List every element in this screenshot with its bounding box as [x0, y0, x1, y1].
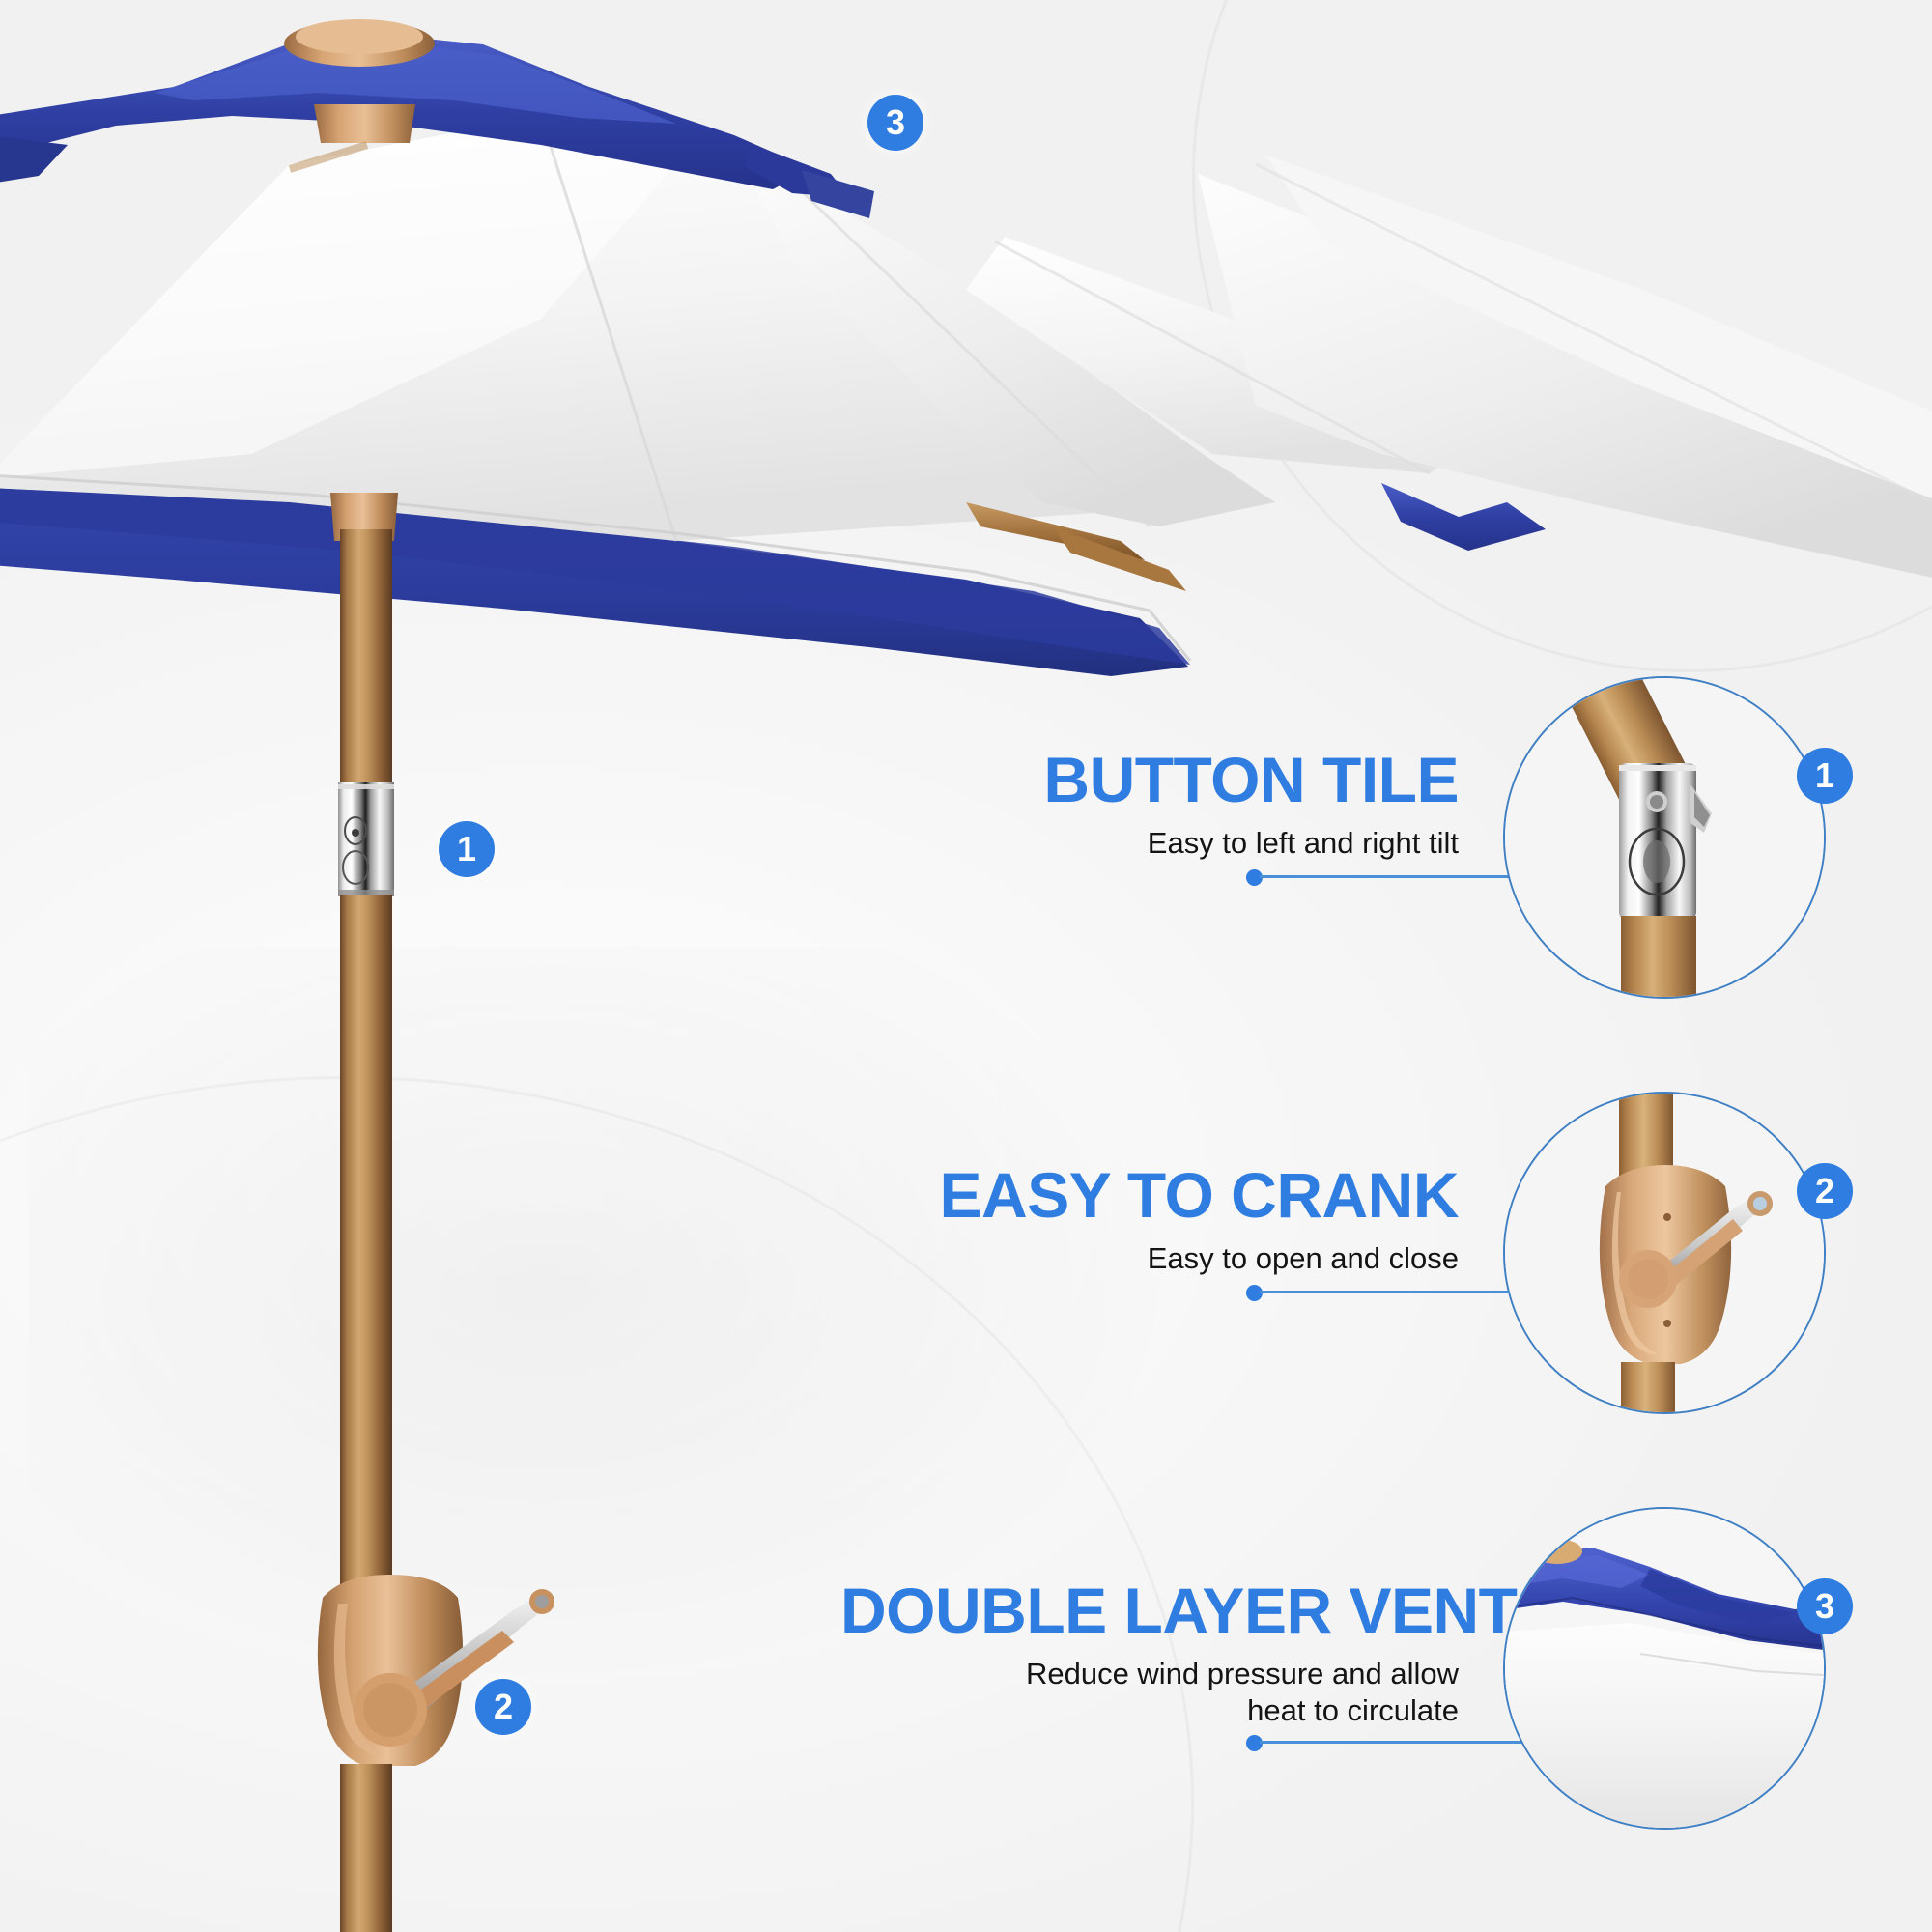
feature-3-heading: DOUBLE LAYER VENT	[840, 1578, 1459, 1642]
feature-3-subtitle: Reduce wind pressure and allow heat to c…	[840, 1656, 1459, 1730]
feature-1-heading: BUTTON TILE	[840, 748, 1459, 811]
feature-3-connector	[1246, 1735, 1555, 1750]
callout-badge-2-on-photo[interactable]: 2	[475, 1679, 531, 1735]
feature-3-text-block: DOUBLE LAYER VENT Reduce wind pressure a…	[840, 1578, 1459, 1730]
feature-2-badge-label: 2	[1815, 1174, 1834, 1208]
callout-badge-2-label: 2	[494, 1690, 513, 1724]
feature-3-connector-line	[1260, 1741, 1555, 1744]
callout-badge-1-label: 1	[457, 832, 476, 867]
tilt-mechanism-top-edge	[338, 784, 394, 789]
feature-1-image-tilt-button-closeup[interactable]	[1503, 676, 1826, 999]
crank-handle-tip-pin	[535, 1595, 549, 1608]
callout-badge-3-label: 3	[886, 105, 905, 140]
pole-bottom-section	[340, 1764, 392, 1932]
feature-1-text-block: BUTTON TILE Easy to left and right tilt	[840, 748, 1459, 862]
feature-3-badge-label: 3	[1815, 1589, 1834, 1624]
feature-1-badge-label: 1	[1815, 758, 1834, 793]
feature-3-image-vent-closeup[interactable]	[1503, 1507, 1826, 1830]
feature-easy-to-crank: EASY TO CRANK Easy to open and close	[831, 1092, 1913, 1507]
feature-3-subtitle-line-1: Reduce wind pressure and allow	[1026, 1657, 1459, 1690]
feature-3-badge[interactable]: 3	[1797, 1578, 1853, 1634]
pole-upper-section	[340, 529, 392, 782]
tilt-button-pin	[352, 829, 359, 837]
feature-1-subtitle: Easy to left and right tilt	[840, 825, 1459, 862]
feature-2-badge[interactable]: 2	[1797, 1163, 1853, 1219]
feature-double-layer-vent: DOUBLE LAYER VENT Reduce wind pressure a…	[831, 1507, 1913, 1922]
feature-2-image-crank-closeup[interactable]	[1503, 1092, 1826, 1414]
feature-1-badge[interactable]: 1	[1797, 748, 1853, 804]
pole-lower-section	[340, 895, 392, 1629]
callout-badge-3-on-photo[interactable]: 3	[867, 95, 923, 151]
feature-button-tile: BUTTON TILE Easy to left and right tilt	[831, 676, 1913, 1092]
feature-2-text-block: EASY TO CRANK Easy to open and close	[840, 1163, 1459, 1277]
feature-2-heading: EASY TO CRANK	[840, 1163, 1459, 1227]
infographic-canvas: 3 1 2 BUTTON TILE Easy to left and right…	[0, 0, 1932, 1932]
callout-badge-1-on-photo[interactable]: 1	[439, 821, 495, 877]
feature-2-subtitle: Easy to open and close	[840, 1240, 1459, 1277]
feature-list: BUTTON TILE Easy to left and right tilt	[831, 676, 1913, 1922]
crank-knob-inner	[363, 1683, 417, 1737]
feature-3-subtitle-line-2: heat to circulate	[1247, 1693, 1459, 1727]
